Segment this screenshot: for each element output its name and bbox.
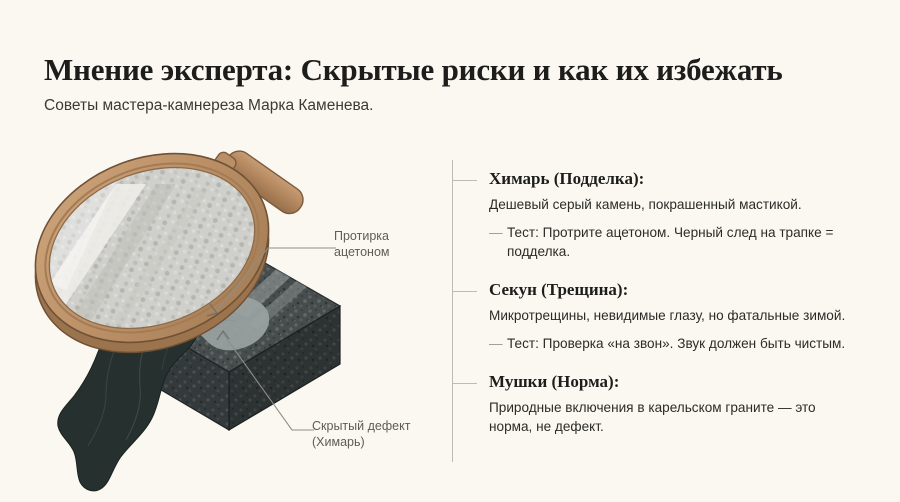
header: Мнение эксперта: Скрытые риски и как их …	[44, 52, 864, 116]
note-subitem-text: Тест: Протрите ацетоном. Черный след на …	[507, 223, 849, 261]
callout-label-acetone: Протирка ацетоном	[334, 228, 390, 260]
note-heading: Секун (Трещина):	[489, 279, 872, 301]
illustration-panel: Протирка ацетоном Скрытый дефект (Химарь…	[0, 140, 450, 502]
note-heading: Мушки (Норма):	[489, 371, 872, 393]
expert-notes-panel: Химарь (Подделка): Дешевый серый камень,…	[452, 160, 872, 462]
notes-list: Химарь (Подделка): Дешевый серый камень,…	[452, 160, 872, 436]
note-description: Природные включения в карельском граните…	[489, 398, 861, 436]
page-subtitle: Советы мастера-камнереза Марка Каменева.	[44, 96, 864, 116]
note-heading: Химарь (Подделка):	[489, 168, 872, 190]
callout-label-hidden-defect: Скрытый дефект (Химарь)	[312, 418, 410, 450]
note-subitem-text: Тест: Проверка «на звон». Звук должен бы…	[507, 334, 845, 353]
rail-tick	[453, 180, 477, 181]
dash-marker-icon: —	[489, 334, 507, 353]
rail-tick	[453, 383, 477, 384]
page-title: Мнение эксперта: Скрытые риски и как их …	[44, 52, 864, 88]
note-description: Микротрещины, невидимые глазу, но фаталь…	[489, 306, 861, 325]
note-item-himar: Химарь (Подделка): Дешевый серый камень,…	[452, 168, 872, 261]
rail-tick	[453, 291, 477, 292]
dash-marker-icon: —	[489, 223, 507, 261]
note-subitem: — Тест: Проверка «на звон». Звук должен …	[489, 334, 849, 353]
note-description: Дешевый серый камень, покрашенный мастик…	[489, 195, 861, 214]
infographic-page: Мнение эксперта: Скрытые риски и как их …	[0, 0, 900, 502]
note-item-mushki: Мушки (Норма): Природные включения в кар…	[452, 371, 872, 436]
note-item-sekun: Секун (Трещина): Микротрещины, невидимые…	[452, 279, 872, 353]
note-subitem: — Тест: Протрите ацетоном. Черный след н…	[489, 223, 849, 261]
